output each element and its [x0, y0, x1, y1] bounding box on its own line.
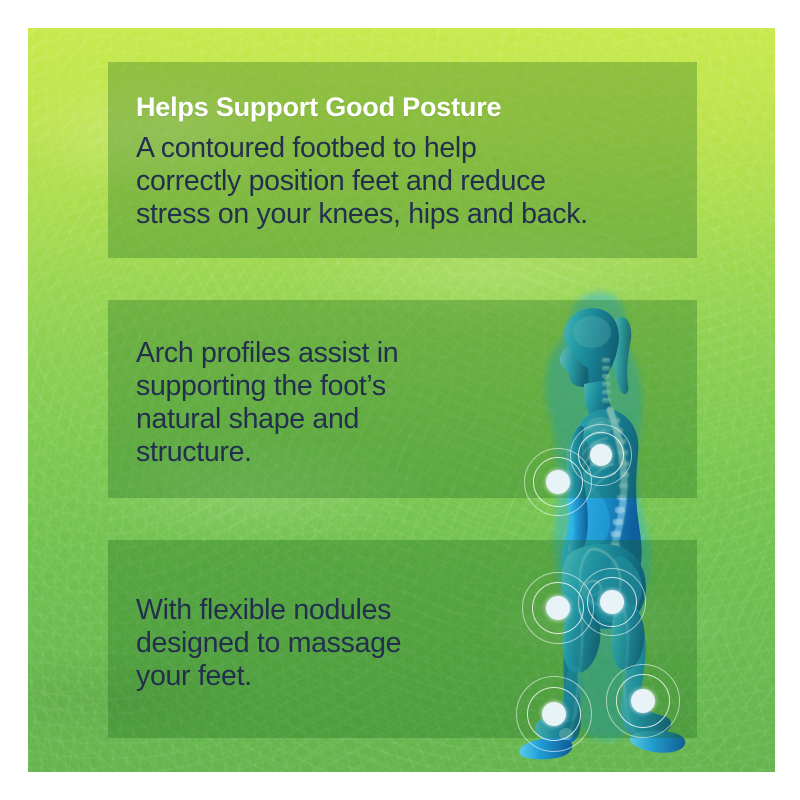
panel-1-body-line-1: A contoured footbed to help	[136, 132, 566, 165]
panel-3-body-line-2: designed to massage	[136, 627, 566, 660]
panel-arch-profiles: Arch profiles assist in supporting the f…	[108, 300, 697, 498]
panel-2-body-line-2: supporting the foot’s	[136, 370, 566, 403]
panel-2-body-line-4: structure.	[136, 436, 566, 469]
green-gradient-canvas: Helps Support Good Posture A contoured f…	[28, 28, 775, 772]
panel-3-body-line-3: your feet.	[136, 660, 566, 693]
panel-flexible-nodules: With flexible nodules designed to massag…	[108, 540, 697, 738]
panel-3-body-line-1: With flexible nodules	[136, 594, 566, 627]
panel-1-body: A contoured footbed to help correctly po…	[136, 132, 566, 231]
panel-3-body: With flexible nodules designed to massag…	[136, 594, 566, 693]
panel-posture-support: Helps Support Good Posture A contoured f…	[108, 62, 697, 258]
panel-2-body: Arch profiles assist in supporting the f…	[136, 337, 566, 469]
panel-2-body-line-3: natural shape and	[136, 403, 566, 436]
panel-1-headline: Helps Support Good Posture	[136, 92, 669, 124]
poster-root: Helps Support Good Posture A contoured f…	[0, 0, 800, 800]
panel-1-body-line-2: correctly position feet and reduce	[136, 165, 566, 198]
panel-2-body-line-1: Arch profiles assist in	[136, 337, 566, 370]
panel-1-body-line-3: stress on your knees, hips and back.	[136, 198, 566, 231]
